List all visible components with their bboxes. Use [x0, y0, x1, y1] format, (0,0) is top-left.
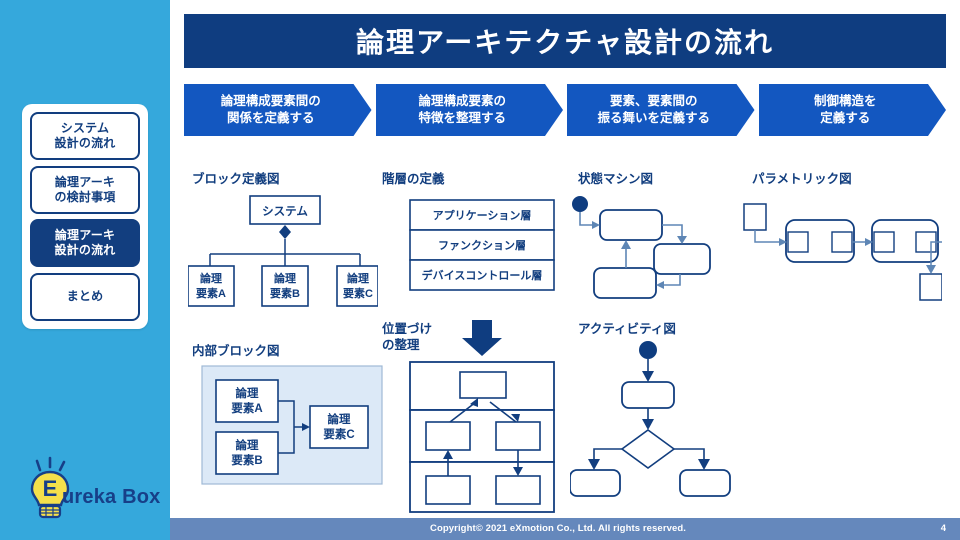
brand-logo: E ureka Box — [26, 454, 161, 526]
step-label: 要素、要素間の振る舞いを定義する — [597, 93, 710, 127]
sidebar-item-logical-arch-flow[interactable]: 論理アーキ設計の流れ — [30, 219, 140, 267]
sidebar-item-label: 論理アーキ設計の流れ — [54, 228, 115, 258]
slide-title-bar: 論理アーキテクチャ設計の流れ — [184, 14, 946, 68]
footer-bar: Copyright© 2021 eXmotion Co., Ltd. All r… — [170, 518, 960, 540]
step-label: 論理構成要素間の関係を定義する — [221, 93, 321, 127]
ibd-source-label: 論理 — [236, 386, 259, 400]
sidebar-nav: システム設計の流れ 論理アーキの検討事項 論理アーキ設計の流れ まとめ — [22, 104, 148, 329]
svg-text:要素C: 要素C — [343, 286, 373, 300]
svg-text:要素B: 要素B — [270, 286, 300, 300]
sidebar-item-label: 論理アーキの検討事項 — [54, 175, 115, 205]
logo-wordmark: ureka Box — [62, 486, 161, 509]
logo-bulb-letter: E — [43, 476, 58, 501]
svg-text:要素B: 要素B — [231, 453, 262, 467]
bdd-title: ブロック定義図 — [192, 172, 280, 188]
step-2-organize-features[interactable]: 論理構成要素の特徴を整理する — [376, 84, 564, 136]
step-label: 制御構造を定義する — [814, 93, 877, 127]
bdd-child-label: 論理 — [347, 271, 369, 285]
step-3-define-behavior[interactable]: 要素、要素間の振る舞いを定義する — [567, 84, 755, 136]
slide-content-panel: 論理アーキテクチャ設計の流れ 論理構成要素間の関係を定義する 論理構成要素の特徴… — [170, 0, 960, 540]
state-machine-diagram — [570, 192, 730, 302]
sidebar-item-label: システム設計の流れ — [54, 121, 115, 151]
diagram-gallery: ブロック定義図 システム 論理要素A 論理要素B 論理要素C 内部ブロック図 — [170, 140, 960, 515]
initial-state-node — [572, 196, 588, 212]
process-steps: 論理構成要素間の関係を定義する 論理構成要素の特徴を整理する 要素、要素間の振る… — [184, 84, 946, 136]
decision-node — [622, 430, 674, 468]
parametric-title: パラメトリック図 — [752, 172, 852, 188]
step-1-define-relations[interactable]: 論理構成要素間の関係を定義する — [184, 84, 372, 136]
footer-copyright: Copyright© 2021 eXmotion Co., Ltd. All r… — [430, 523, 686, 534]
positioning-diagram — [408, 360, 556, 515]
step-label: 論理構成要素の特徴を整理する — [418, 93, 506, 127]
layer-definition-diagram: アプリケーション層 ファンクション層 デバイスコントロール層 — [408, 198, 556, 296]
bdd-child-label: 論理 — [274, 271, 296, 285]
footer-page-number: 4 — [941, 523, 946, 534]
left-rail: システム設計の流れ 論理アーキの検討事項 論理アーキ設計の流れ まとめ — [0, 0, 170, 540]
bdd-child-label: 論理 — [200, 271, 222, 285]
block-definition-diagram: システム 論理要素A 論理要素B 論理要素C — [188, 192, 378, 312]
step-4-define-control-structure[interactable]: 制御構造を定義する — [759, 84, 947, 136]
ibd-source-label: 論理 — [236, 438, 259, 452]
sidebar-item-label: まとめ — [67, 289, 104, 304]
svg-text:要素A: 要素A — [196, 286, 226, 300]
svg-text:要素A: 要素A — [231, 401, 262, 415]
parametric-diagram — [742, 198, 942, 302]
activity-title: アクティビティ図 — [578, 322, 676, 338]
state-machine-title: 状態マシン図 — [578, 172, 653, 188]
layers-title: 階層の定義 — [382, 172, 445, 188]
layer-row-label: アプリケーション層 — [433, 208, 532, 222]
layer-row-label: デバイスコントロール層 — [422, 268, 543, 282]
bdd-root-label: システム — [262, 205, 308, 218]
svg-text:要素C: 要素C — [323, 427, 354, 441]
ibd-title: 内部ブロック図 — [192, 344, 280, 360]
down-arrow-icon — [458, 318, 506, 358]
sidebar-item-system-design[interactable]: システム設計の流れ — [30, 112, 140, 160]
page-title: 論理アーキテクチャ設計の流れ — [356, 21, 774, 61]
activity-diagram — [570, 338, 740, 498]
internal-block-diagram: 論理要素A 論理要素B 論理要素C — [200, 362, 390, 488]
initial-node — [639, 341, 657, 359]
sidebar-item-summary[interactable]: まとめ — [30, 273, 140, 321]
sidebar-item-logical-arch-considerations[interactable]: 論理アーキの検討事項 — [30, 166, 140, 214]
layer-row-label: ファンクション層 — [438, 239, 526, 252]
ibd-target-label: 論理 — [328, 412, 351, 426]
positioning-title: 位置づけの整理 — [382, 322, 432, 353]
